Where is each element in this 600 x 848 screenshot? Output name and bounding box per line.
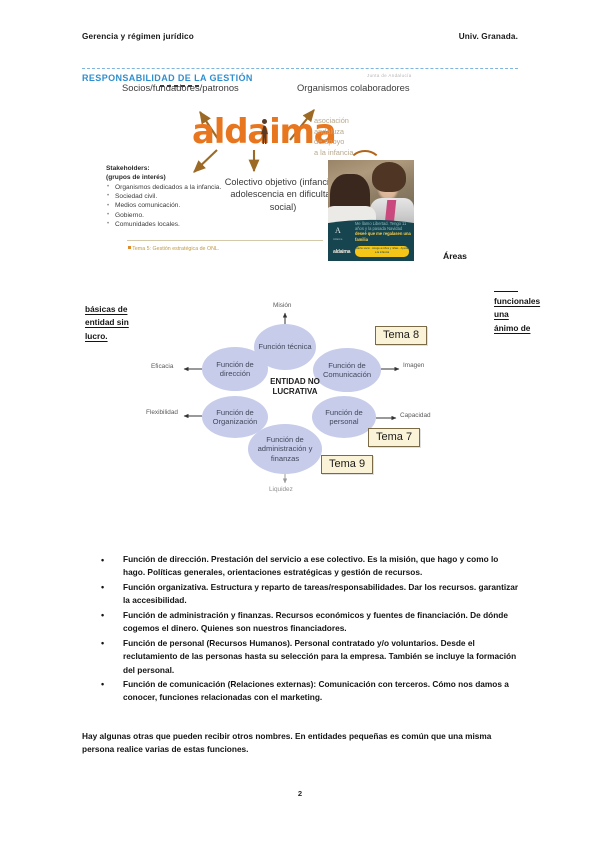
function-administracion-finanzas: Función de administración y finanzas <box>248 424 322 474</box>
outcome-eficacia: Eficacia <box>151 363 173 370</box>
label-socios-fundadores: Socios/fundadores/patronos <box>122 82 239 93</box>
body-bullet-list: Función de dirección. Prestación del ser… <box>85 553 520 706</box>
outcome-flexibilidad: Flexibilidad <box>146 409 178 416</box>
outcome-mision: Misión <box>273 302 291 309</box>
function-direccion: Función de dirección <box>202 347 268 391</box>
fragment-left-line-1: básicas de <box>85 304 127 314</box>
tema-badge-9: Tema 9 <box>321 455 373 474</box>
tema-badge-7: Tema 7 <box>368 428 420 447</box>
list-item: Función de administración y finanzas. Re… <box>85 609 520 636</box>
poster-brand: aldaima <box>333 249 350 255</box>
poster-a-icon: A <box>335 226 341 235</box>
list-item: Función de personal (Recursos Humanos). … <box>85 637 520 677</box>
embedded-slide: RESPONSABILIDAD DE LA GESTIÓN Junta de A… <box>82 68 518 268</box>
document-header: Gerencia y régimen jurídico Univ. Granad… <box>82 32 518 41</box>
junta-andalucia-mark: Junta de Andalucía <box>367 73 412 78</box>
tema-badge-8: Tema 8 <box>375 326 427 345</box>
label-organismos-colaboradores: Organismos colaboradores <box>297 82 410 93</box>
document-page: Gerencia y régimen jurídico Univ. Granad… <box>0 0 600 848</box>
list-item: Comunidades locales. <box>115 221 246 230</box>
poster-photo <box>328 160 414 222</box>
functions-list: Función de dirección. Prestación del ser… <box>85 553 520 705</box>
outcome-capacidad: Capacidad <box>400 412 431 419</box>
footer-bullet-icon <box>128 246 131 249</box>
logo-person-icon <box>261 119 268 145</box>
tagline-line-1: asociación <box>314 116 353 127</box>
function-personal: Función de personal <box>312 396 376 438</box>
tagline-line-3: de apoyo <box>314 137 353 148</box>
logo-tagline: asociación andaluza de apoyo a la infanc… <box>314 116 353 158</box>
outcome-imagen: Imagen <box>403 362 424 369</box>
header-university: Univ. Granada. <box>459 32 518 41</box>
stakeholders-title: Stakeholders: <box>106 165 150 172</box>
poster-cta-text: Hazte socio · Acoge a niños y niñas · Ay… <box>355 246 409 255</box>
fragment-right-text: funcionales una ánimo de <box>494 295 540 335</box>
fragment-right-line-2: una <box>494 309 509 319</box>
slide-footer-divider <box>127 240 323 241</box>
list-item: Función organizativa. Estructura y repar… <box>85 581 520 608</box>
slide-footer: Tema 5: Gestión estratégica de ONL. <box>128 246 219 252</box>
slide-top-divider <box>82 68 518 69</box>
footer-text: Tema 5: Gestión estratégica de ONL. <box>132 246 219 252</box>
header-course-title: Gerencia y régimen jurídico <box>82 32 194 41</box>
label-colectivo-objetivo: Colectivo objetivo (infancia y adolescen… <box>222 176 344 213</box>
poster-quote: Me llamo Libertad. Tengo 11 años y la pa… <box>355 221 411 242</box>
tagline-line-2: andaluza <box>314 127 353 138</box>
fragment-right-rule <box>494 291 518 292</box>
fragment-right-line-3: ánimo de <box>494 323 530 333</box>
aldaima-campaign-poster: Me llamo Libertad. Tengo 11 años y la pa… <box>328 160 414 261</box>
outcome-liquidez: Liquidez <box>269 486 293 493</box>
diagram-core-label: ENTIDAD NO LUCRATIVA <box>260 377 330 398</box>
poster-cta-bar: Hazte socio · Acoge a niños y niñas · Ay… <box>355 246 409 257</box>
list-item: Función de comunicación (Relaciones exte… <box>85 678 520 705</box>
page-number: 2 <box>0 789 600 798</box>
poster-a-subtitle: Aldaima <box>333 238 353 241</box>
list-item: Función de dirección. Prestación del ser… <box>85 553 520 580</box>
tagline-line-4: a la infancia <box>314 148 353 159</box>
entidad-no-lucrativa-diagram: Función técnica Función de dirección Fun… <box>146 300 464 495</box>
fragment-areas: Áreas <box>443 250 467 264</box>
fragment-left-line-2: entidad sin <box>85 317 129 327</box>
stakeholders-subtitle: (grupos de interés) <box>106 174 166 181</box>
closing-paragraph: Hay algunas otras que pueden recibir otr… <box>82 730 520 757</box>
fragment-left-line-3: lucro. <box>85 331 108 341</box>
fragment-left-text: básicas de entidad sin lucro. <box>85 303 129 343</box>
fragment-right-line-1: funcionales <box>494 296 540 306</box>
